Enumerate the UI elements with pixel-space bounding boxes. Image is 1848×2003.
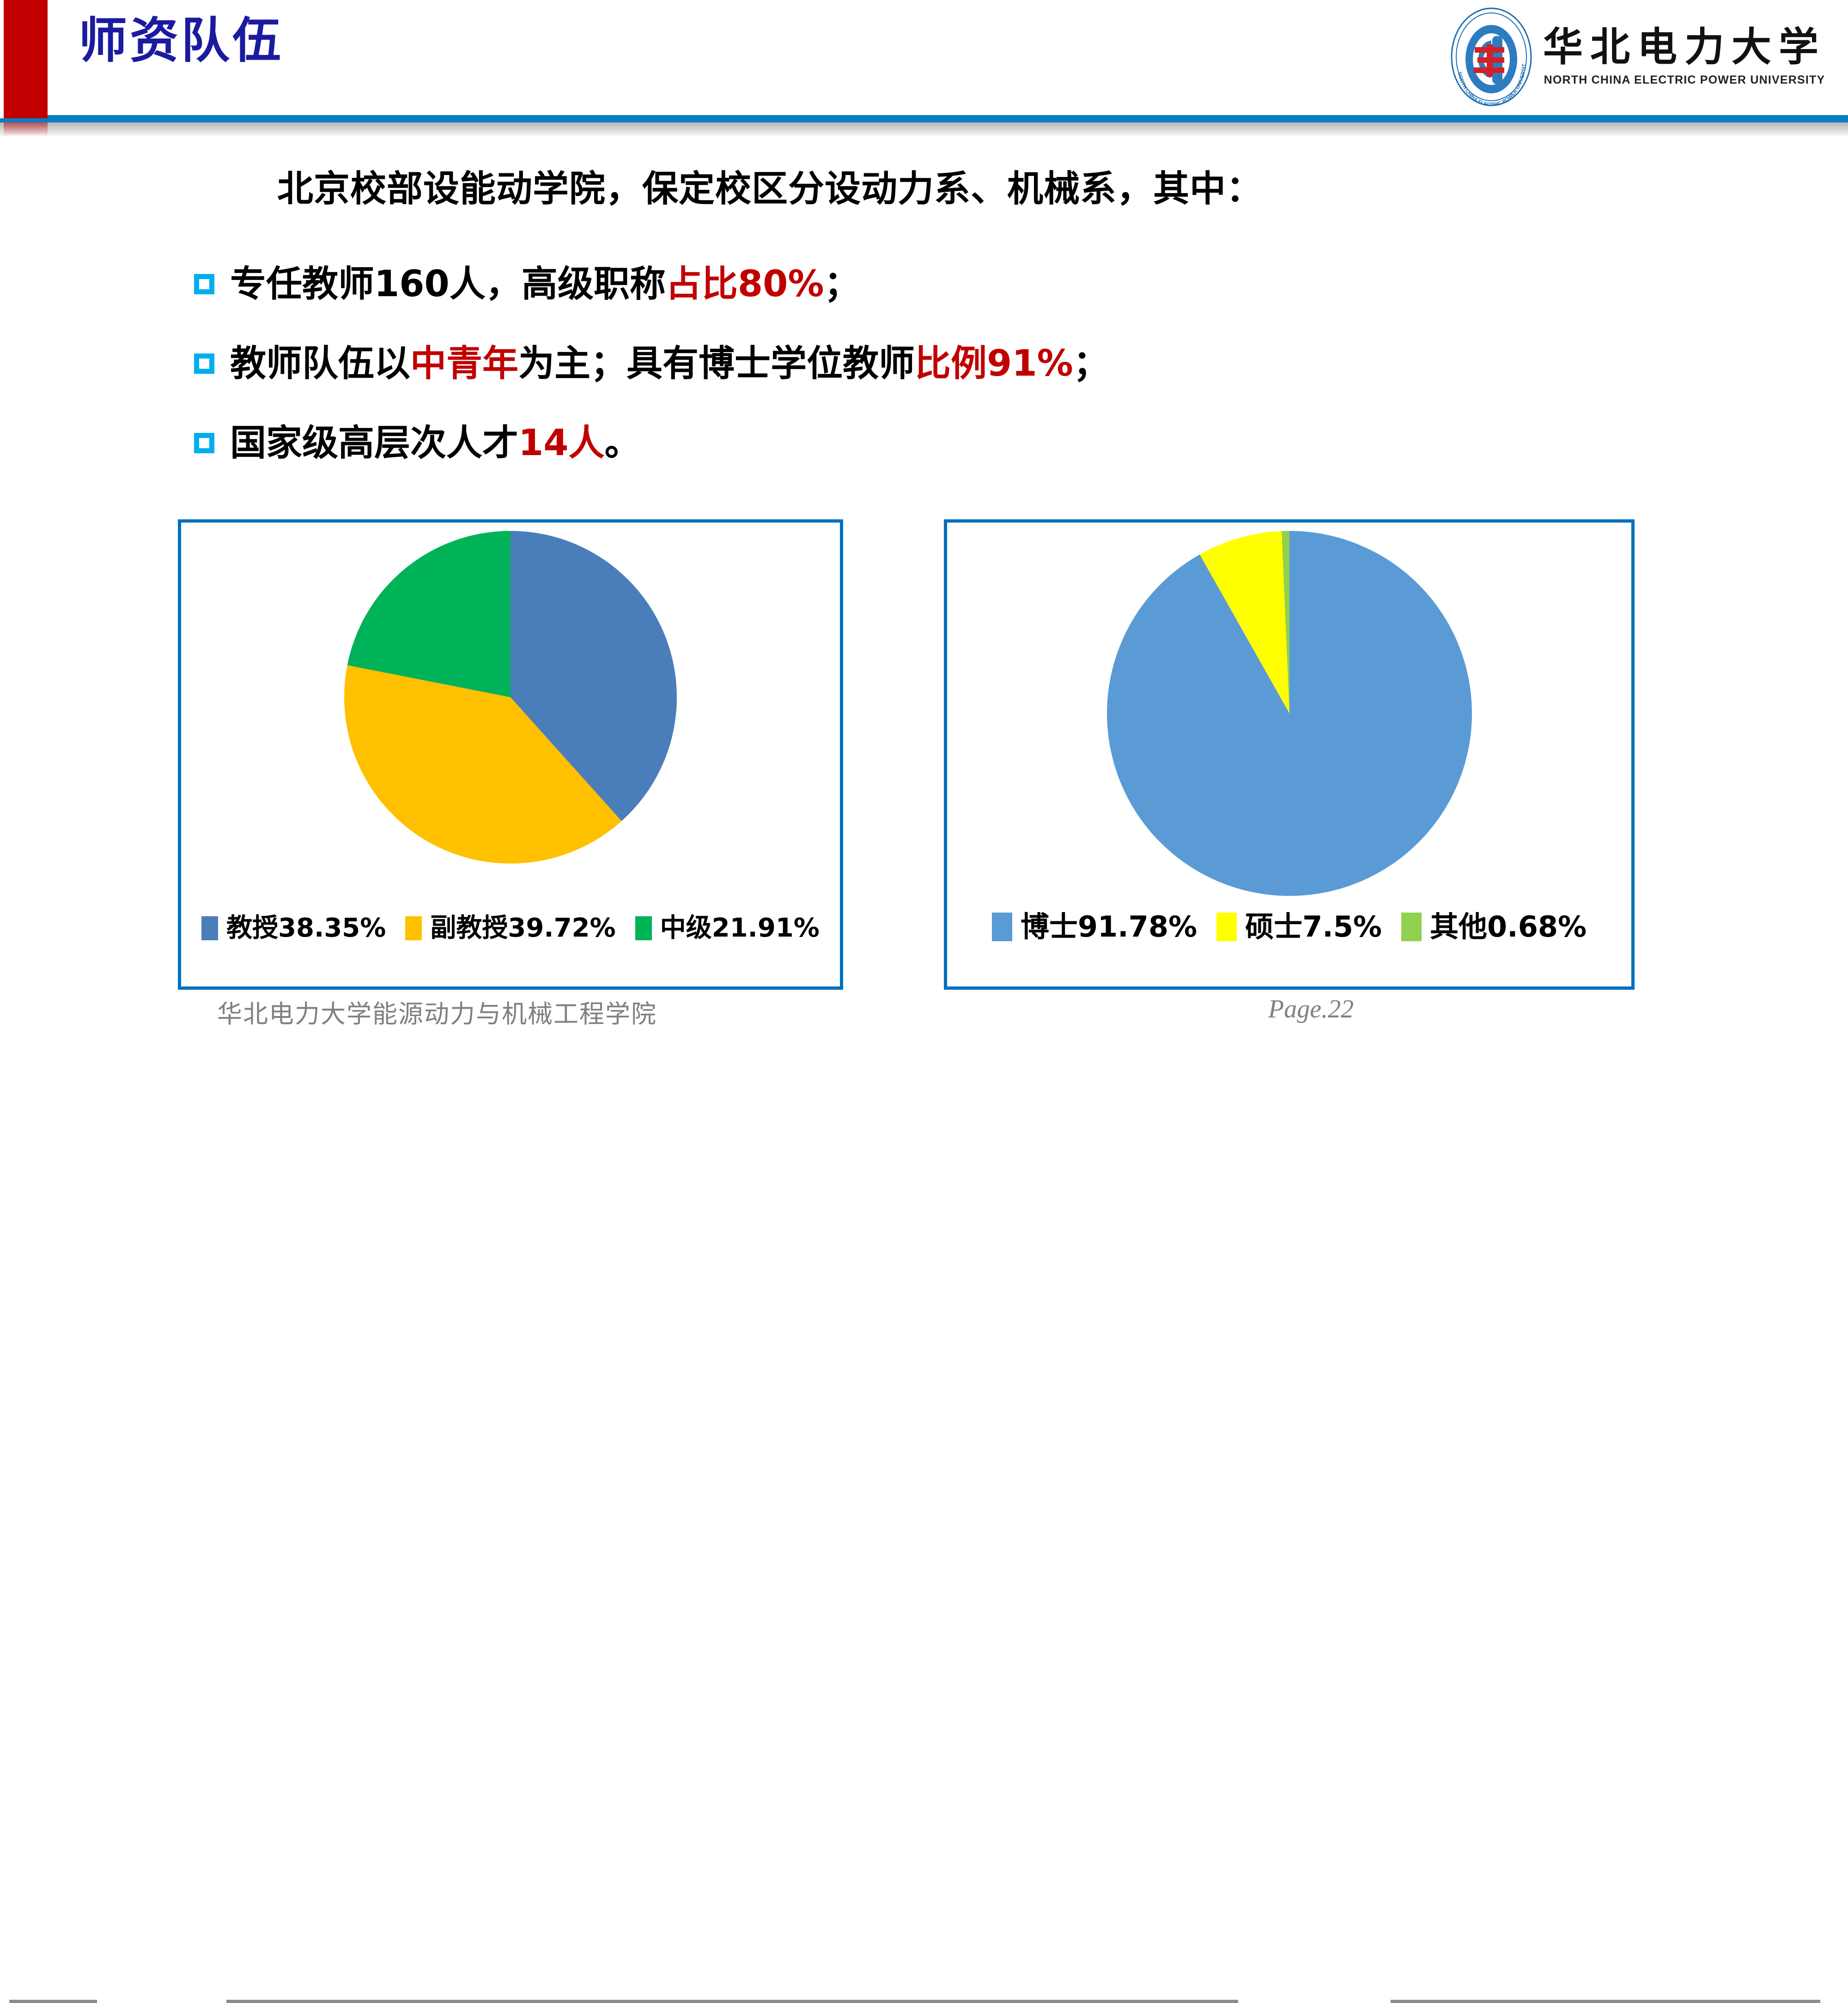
- bullet-1-part-2: 占比80%: [666, 266, 824, 302]
- legend-swatch: [201, 916, 218, 940]
- bullet-2-part-1: 教师队伍以: [230, 346, 410, 382]
- legend-item: 硕士7.5%: [1216, 913, 1382, 941]
- footer-rule-left: [9, 2000, 97, 2003]
- legend-title-rank: 教授38.35% 副教授39.72% 中级21.91%: [181, 915, 840, 941]
- pie-chart-degree: [1107, 531, 1472, 896]
- square-bullet-icon: [194, 353, 214, 374]
- legend-degree: 博士91.78% 硕士7.5% 其他0.68%: [947, 913, 1631, 941]
- legend-label: 副教授39.72%: [430, 915, 615, 941]
- legend-item: 博士91.78%: [992, 913, 1197, 941]
- svg-text:1958: 1958: [1483, 85, 1499, 92]
- chart-panel-degree: 博士91.78% 硕士7.5% 其他0.68%: [944, 519, 1635, 990]
- square-bullet-icon: [194, 274, 214, 294]
- legend-item: 中级21.91%: [635, 915, 820, 941]
- bullet-1-part-1: 专任教师160人，高级职称: [230, 266, 666, 302]
- header-reflection-red: [4, 122, 48, 136]
- logo-name-en: NORTH CHINA ELECTRIC POWER UNIVERSITY: [1544, 73, 1825, 87]
- legend-item: 副教授39.72%: [405, 915, 615, 941]
- pie-chart-title-rank: [344, 531, 677, 864]
- bullet-item-1: 专任教师160人，高级职称 占比80% ；: [194, 254, 1765, 314]
- lead-paragraph: 北京校部设能动学院，保定校区分设动力系、机械系，其中：: [277, 171, 1263, 207]
- footer-rule-right: [1391, 2000, 1820, 2003]
- page-title: 师资队伍: [79, 17, 284, 65]
- chart-panel-title-rank: 教授38.35% 副教授39.72% 中级21.91%: [178, 519, 843, 990]
- header-reflection: [0, 122, 1848, 137]
- legend-item: 教授38.35%: [201, 915, 386, 941]
- bullet-item-3: 国家级高层次人才 14人 。: [194, 413, 1765, 473]
- legend-swatch: [405, 916, 422, 940]
- pie-chart-title-rank-area: [181, 531, 840, 864]
- bullet-2-part-3: 为主；具有博士学位教师: [518, 346, 915, 382]
- header-red-bar: [4, 0, 48, 119]
- header-blue-rule: [0, 118, 1848, 122]
- legend-item: 其他0.68%: [1401, 913, 1587, 941]
- slide-header: 师资队伍 1958 NORTH CHI: [0, 0, 1848, 122]
- legend-swatch: [635, 916, 652, 940]
- logo-name-cn: 华北电力大学: [1543, 27, 1826, 67]
- pie-chart-degree-area: [947, 531, 1631, 896]
- footer-page-number: Page.22: [1268, 994, 1354, 1024]
- legend-swatch: [992, 913, 1012, 941]
- bullet-3-part-3: 。: [605, 425, 641, 461]
- legend-swatch: [1216, 913, 1237, 941]
- legend-swatch: [1401, 913, 1422, 941]
- bullet-2-part-5: ；: [1073, 346, 1109, 382]
- legend-label: 博士91.78%: [1021, 913, 1197, 941]
- legend-label: 教授38.35%: [226, 915, 386, 941]
- bullet-2-part-4: 比例91%: [915, 346, 1073, 382]
- legend-label: 中级21.91%: [660, 915, 820, 941]
- bullet-1-part-3: ；: [824, 266, 860, 302]
- bullet-3-part-2: 14人: [518, 425, 605, 461]
- footer-rule-mid: [226, 2000, 1238, 2003]
- square-bullet-icon: [194, 433, 214, 453]
- bullet-3-part-1: 国家级高层次人才: [230, 425, 518, 461]
- bullet-item-2: 教师队伍以 中青年 为主；具有博士学位教师 比例91% ；: [194, 334, 1765, 394]
- slide-root: 师资队伍 1958 NORTH CHI: [0, 0, 1848, 1043]
- bullet-list: 专任教师160人，高级职称 占比80% ； 教师队伍以 中青年 为主；具有博士学…: [194, 254, 1765, 493]
- logo-wordmark: 华北电力大学 NORTH CHINA ELECTRIC POWER UNIVER…: [1543, 27, 1826, 87]
- bullet-2-part-2: 中青年: [410, 346, 518, 382]
- university-logo: 1958 NORTH CHINA ELECTRIC POWER UNIVERSI…: [1450, 4, 1826, 110]
- footer-organization: 华北电力大学能源动力与机械工程学院: [217, 993, 657, 1030]
- legend-label: 其他0.68%: [1430, 913, 1587, 941]
- legend-label: 硕士7.5%: [1245, 913, 1382, 941]
- ncepu-seal-icon: 1958 NORTH CHINA ELECTRIC POWER UNIVERSI…: [1450, 7, 1533, 107]
